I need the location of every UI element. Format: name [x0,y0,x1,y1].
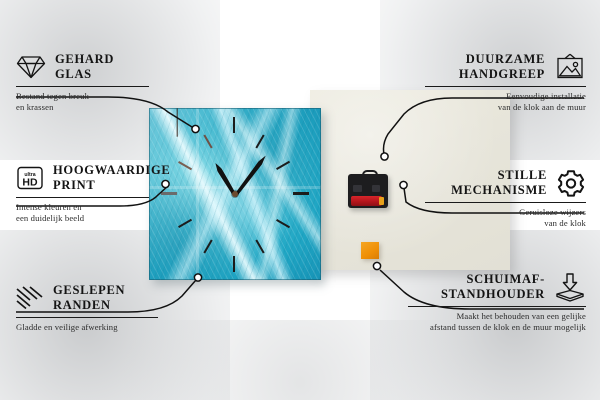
feature-title-line2: MECHANISME [451,183,547,198]
foam-stand-holder-pad [361,242,379,259]
feature-title: DUURZAME HANDGREEP [459,52,545,83]
feature-title-line1: GEHARD [55,52,114,67]
feature-header: ultra HD HOOGWAARDIGE PRINT [16,163,172,194]
feature-gehard-glas: GEHARD GLAS Bestand tegen breuk en krass… [16,52,166,114]
feature-divider [425,202,586,203]
feature-title: GEHARD GLAS [55,52,114,83]
feature-header: GESLEPEN RANDEN [16,283,176,314]
feature-divider [16,86,149,87]
mechanism-detail-left [353,185,362,192]
feature-stille-mechanisme: STILLE MECHANISME Geruisloze wijzers van… [410,168,586,230]
feature-title-line2: HANDGREEP [459,67,545,82]
feature-title-line2: PRINT [53,178,170,193]
feature-title-line2: STANDHOUDER [441,287,545,302]
feature-title: GESLEPEN RANDEN [53,283,125,314]
feature-description: Eenvoudige installatie van de klok aan d… [410,91,586,114]
product-infographic: GEHARD GLAS Bestand tegen breuk en krass… [0,0,600,400]
feature-title-line1: SCHUIMAF- [441,272,545,287]
ultra-hd-big-label: HD [22,177,38,189]
glass-edge [149,108,321,280]
feature-desc-line1: Geruisloze wijzers [410,207,586,219]
feature-divider [16,197,149,198]
feature-desc-line1: Bestand tegen breuk [16,91,166,103]
glass-clock-product [149,108,321,280]
feature-desc-line2: een duidelijk beeld [16,213,172,225]
feature-header: GEHARD GLAS [16,52,166,83]
feature-header: SCHUIMAF- STANDHOUDER [396,272,586,303]
feature-duurzame-handgreep: DUURZAME HANDGREEP Eenvoudige installati… [410,52,586,114]
mechanism-body [348,174,388,208]
feature-title-line1: GESLEPEN [53,283,125,298]
feature-header: DUURZAME HANDGREEP [410,52,586,83]
clock-mechanism [348,170,388,208]
feature-desc-line1: Maakt het behouden van een gelijke [396,311,586,323]
feature-desc-line2: en krassen [16,102,166,114]
feature-divider [408,306,586,307]
feature-title-line2: RANDEN [53,298,125,313]
feature-title-line2: GLAS [55,67,114,82]
feature-title-line1: HOOGWAARDIGE [53,163,170,178]
picture-frame-icon [554,53,586,81]
battery-positive-terminal [379,197,384,205]
feature-description: Geruisloze wijzers van de klok [410,207,586,230]
gear-icon [556,169,586,198]
feature-title: HOOGWAARDIGE PRINT [53,163,170,194]
feature-title-line1: DUURZAME [459,52,545,67]
feature-geslepen-randen: GESLEPEN RANDEN Gladde en veilige afwerk… [16,283,176,333]
feature-header: STILLE MECHANISME [410,168,586,199]
diamond-icon [16,54,46,80]
diagonal-lines-icon [16,286,44,310]
feature-desc-line2: van de klok [410,218,586,230]
feature-hoogwaardige-print: ultra HD HOOGWAARDIGE PRINT Intense kleu… [16,163,172,225]
feature-description: Intense kleuren en een duidelijk beeld [16,202,172,225]
feature-desc-line2: afstand tussen de klok en de muur mogeli… [396,322,586,334]
feature-desc-line2: van de klok aan de muur [410,102,586,114]
ultra-hd-icon: ultra HD [16,165,44,191]
feature-description: Bestand tegen breuk en krassen [16,91,166,114]
feature-desc-line1: Intense kleuren en [16,202,172,214]
feature-description: Maakt het behouden van een gelijke afsta… [396,311,586,334]
feature-desc-line1: Eenvoudige installatie [410,91,586,103]
feature-title-line1: STILLE [451,168,547,183]
feature-title: STILLE MECHANISME [451,168,547,199]
feature-schuimaf-standhouder: SCHUIMAF- STANDHOUDER Maakt het behouden… [396,272,586,334]
feature-description: Gladde en veilige afwerking [16,322,176,334]
mechanism-detail-right [372,185,380,192]
feature-divider [16,317,158,318]
stand-holder-icon [554,272,586,302]
feature-divider [425,86,586,87]
feature-title: SCHUIMAF- STANDHOUDER [441,272,545,303]
battery [351,196,382,206]
feature-desc-line1: Gladde en veilige afwerking [16,322,176,334]
